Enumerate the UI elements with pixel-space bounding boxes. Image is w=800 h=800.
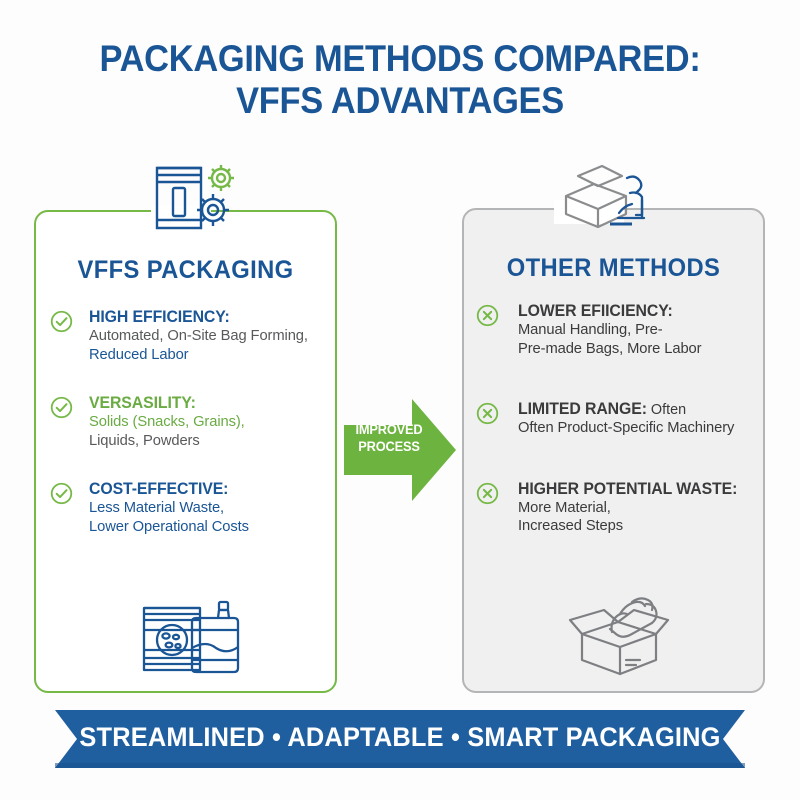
list-item-line: More Material,: [518, 499, 759, 518]
arrow-label: IMPROVED PROCESS: [350, 421, 428, 455]
list-item-heading-tail: Often: [647, 401, 686, 418]
list-item-heading: VERSASILITY:: [89, 394, 317, 413]
list-item: COST-EFFECTIVE: Less Material Waste, Low…: [50, 480, 326, 536]
check-circle-icon: [50, 396, 73, 419]
list-item-line: Automated, On-Site Bag Forming,: [89, 327, 319, 346]
list-item-heading-text: HIGHER POTENTIAL WASTE:: [518, 480, 737, 498]
list-item: VERSASILITY: Solids (Snacks, Grains), Li…: [50, 394, 326, 450]
ribbon-tagline: STREAMLINED • ADAPTABLE • SMART PACKAGIN…: [76, 722, 725, 753]
worker-packing-boxes-icon: [548, 152, 660, 244]
list-item-line: Less Material Waste,: [89, 499, 319, 518]
check-circle-icon: [50, 310, 73, 333]
title-line-2: VFFS ADVANTAGES: [28, 80, 772, 122]
check-circle-icon: [50, 482, 73, 505]
arrow-label-line-1: IMPROVED: [356, 422, 423, 437]
snack-bag-and-liquid-pouch-icon: [130, 596, 248, 684]
list-item-heading: LIMITED RANGE: Often: [518, 400, 756, 419]
list-item-line: Often Product-Specific Machinery: [518, 419, 759, 438]
list-item-heading-text: LOWER EFIICIENCY:: [518, 302, 673, 320]
list-item-line: Reduced Labor: [89, 346, 319, 365]
other-methods-drawback-list: LOWER EFIICIENCY: Manual Handling, Pre- …: [476, 302, 766, 578]
hand-in-open-box-icon: [560, 592, 678, 684]
vffs-benefit-list: HIGH EFFICIENCY: Automated, On-Site Bag …: [50, 308, 326, 566]
x-circle-icon: [476, 304, 499, 327]
list-item-heading: COST-EFFECTIVE:: [89, 480, 317, 499]
vffs-bag-and-gears-icon: [133, 148, 245, 240]
list-item-line: Increased Steps: [518, 517, 759, 536]
x-circle-icon: [476, 482, 499, 505]
infographic-canvas: PACKAGING METHODS COMPARED: VFFS ADVANTA…: [0, 0, 800, 800]
list-item: LOWER EFIICIENCY: Manual Handling, Pre- …: [476, 302, 766, 358]
vffs-panel-heading: VFFS PACKAGING: [43, 256, 327, 285]
list-item-heading-text: LIMITED RANGE:: [518, 400, 647, 418]
other-methods-panel-heading: OTHER METHODS: [471, 254, 755, 283]
title-line-1: PACKAGING METHODS COMPARED:: [99, 38, 700, 79]
list-item-heading: HIGH EFFICIENCY:: [89, 308, 317, 327]
list-item: HIGH EFFICIENCY: Automated, On-Site Bag …: [50, 308, 326, 364]
list-item: LIMITED RANGE: Often Often Product-Speci…: [476, 400, 766, 438]
list-item-line: Pre-made Bags, More Labor: [518, 340, 759, 359]
list-item-heading: HIGHER POTENTIAL WASTE:: [518, 480, 756, 499]
list-item-line: Liquids, Powders: [89, 432, 319, 451]
list-item-line: Lower Operational Costs: [89, 518, 319, 537]
x-circle-icon: [476, 402, 499, 425]
list-item-line: Solids (Snacks, Grains),: [89, 413, 319, 432]
arrow-label-line-2: PROCESS: [358, 439, 419, 454]
list-item: HIGHER POTENTIAL WASTE: More Material, I…: [476, 480, 766, 536]
list-item-heading: LOWER EFIICIENCY:: [518, 302, 756, 321]
list-item-line: Manual Handling, Pre-: [518, 321, 759, 340]
page-title: PACKAGING METHODS COMPARED: VFFS ADVANTA…: [28, 38, 772, 122]
